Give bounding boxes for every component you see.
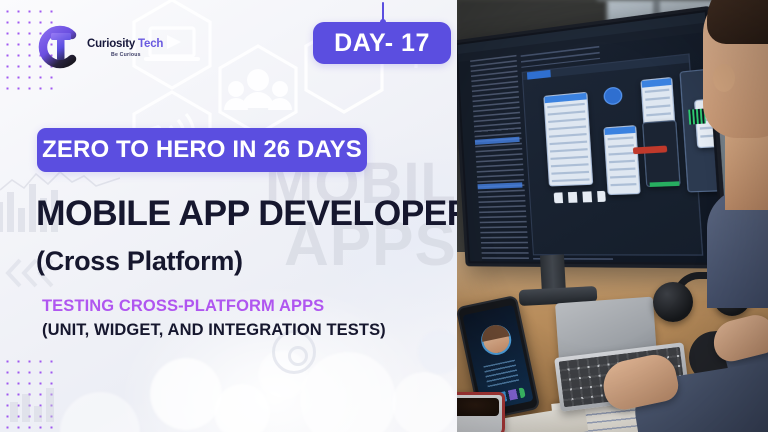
bokeh-blob (150, 358, 222, 430)
bokeh-blob (300, 352, 396, 432)
promo-banner: MOBILE APPS (0, 0, 768, 432)
badge-pin-decoration (382, 2, 384, 22)
page-title: MOBILE APP DEVELOPER (36, 193, 457, 234)
brand-tagline: Be Curious (111, 53, 163, 58)
topic-line-secondary: (UNIT, WIDGET, AND INTEGRATION TESTS) (42, 320, 402, 341)
hero-banner[interactable]: ZERO TO HERO IN 26 DAYS (37, 128, 367, 172)
brand-name-part1: Curiosity (87, 38, 135, 50)
brand-logo[interactable]: Curiosity Tech Be Curious (36, 24, 163, 70)
day-badge[interactable]: DAY- 17 (313, 22, 451, 64)
people-group-icon (224, 69, 292, 110)
small-bars-decoration (8, 382, 60, 422)
topic-line-primary: TESTING CROSS-PLATFORM APPS (42, 296, 442, 317)
bokeh-blob (392, 372, 456, 432)
topic-block: TESTING CROSS-PLATFORM APPS (UNIT, WIDGE… (42, 296, 442, 341)
page-subtitle: (Cross Platform) (36, 246, 243, 277)
bokeh-blob (60, 392, 140, 432)
bokeh-blob (214, 384, 270, 432)
brand-name-part2: Tech (138, 38, 163, 50)
curiosity-c-monogram-icon (36, 24, 82, 70)
developer-workspace-photo (457, 0, 768, 432)
content-panel: MOBILE APPS (0, 0, 457, 432)
brand-logo-text: Curiosity Tech Be Curious (87, 35, 163, 58)
